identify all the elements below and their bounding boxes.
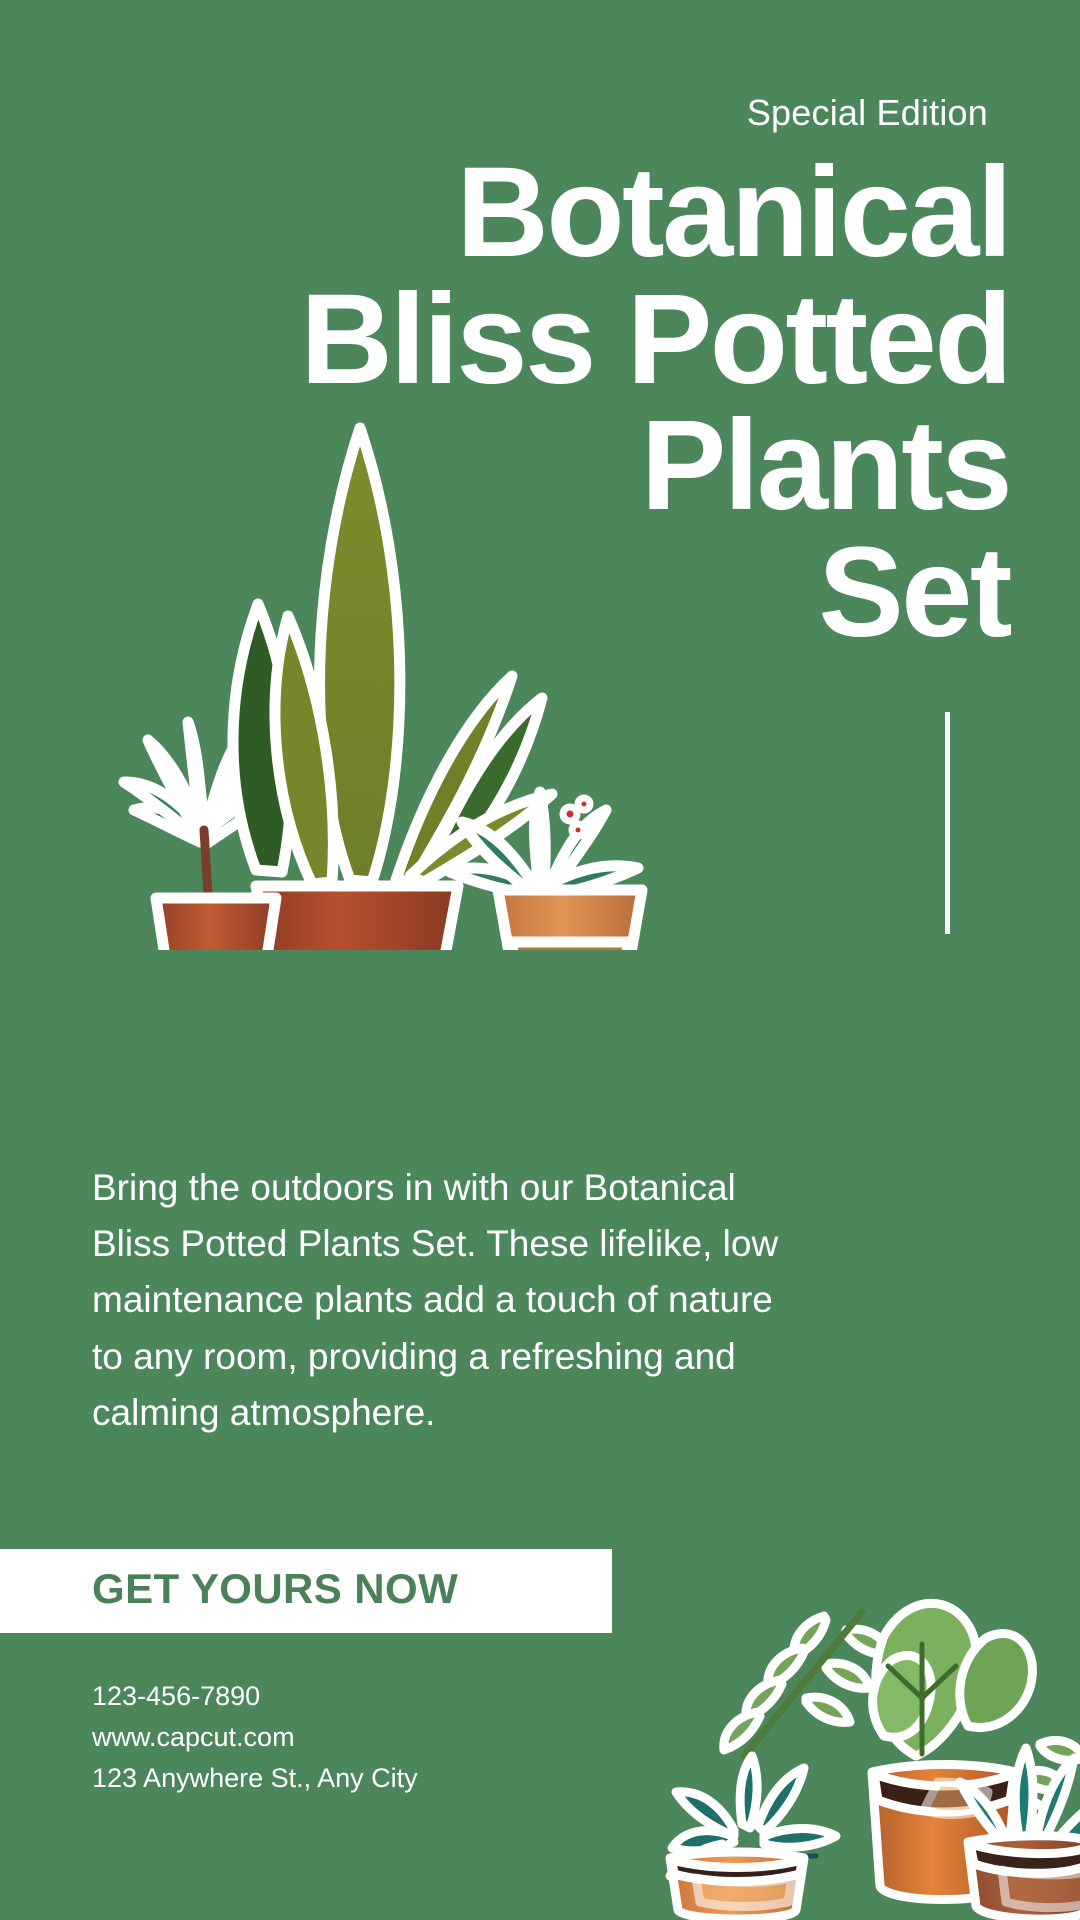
eyebrow-label: Special Edition: [747, 92, 988, 134]
contact-website[interactable]: www.capcut.com: [92, 1717, 418, 1758]
contact-address: 123 Anywhere St., Any City: [92, 1758, 418, 1799]
three-potted-plants-corner-illustration: [616, 1586, 1080, 1920]
title-line-2: Bliss Potted: [70, 277, 1010, 404]
three-potted-plants-illustration: [60, 390, 660, 950]
poster-canvas: Special Edition Botanical Bliss Potted P…: [0, 0, 1080, 1920]
title-line-1: Botanical: [70, 150, 1010, 277]
contact-info: 123-456-7890 www.capcut.com 123 Anywhere…: [92, 1676, 418, 1799]
contact-phone[interactable]: 123-456-7890: [92, 1676, 418, 1717]
description-paragraph: Bring the outdoors in with our Botanical…: [92, 1160, 802, 1441]
vertical-divider: [945, 712, 950, 934]
cta-label[interactable]: GET YOURS NOW: [92, 1565, 458, 1613]
